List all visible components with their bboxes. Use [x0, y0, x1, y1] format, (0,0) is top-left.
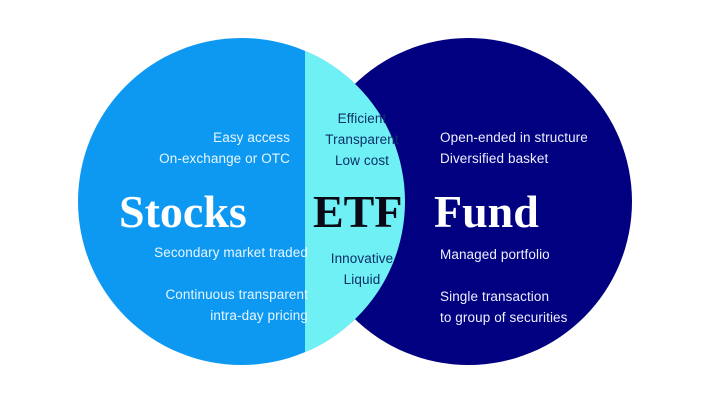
etf-attributes-bottom: Innovative Liquid — [310, 248, 414, 290]
fund-attributes-top: Open-ended in structure Diversified bask… — [440, 127, 588, 169]
stocks-attributes-top: Easy access On-exchange or OTC — [159, 127, 290, 169]
etf-attributes-top: Efficient Transparent Low cost — [310, 108, 414, 171]
stocks-title: Stocks — [119, 189, 247, 235]
fund-title: Fund — [434, 189, 539, 235]
fund-attributes-bottom: Managed portfolio Single transaction to … — [440, 244, 568, 328]
venn-labels-layer: Easy access On-exchange or OTC Secondary… — [0, 0, 720, 404]
stocks-attributes-bottom: Secondary market traded Continuous trans… — [154, 242, 308, 326]
etf-title: ETF — [313, 189, 402, 235]
venn-diagram: Easy access On-exchange or OTC Secondary… — [0, 0, 720, 404]
